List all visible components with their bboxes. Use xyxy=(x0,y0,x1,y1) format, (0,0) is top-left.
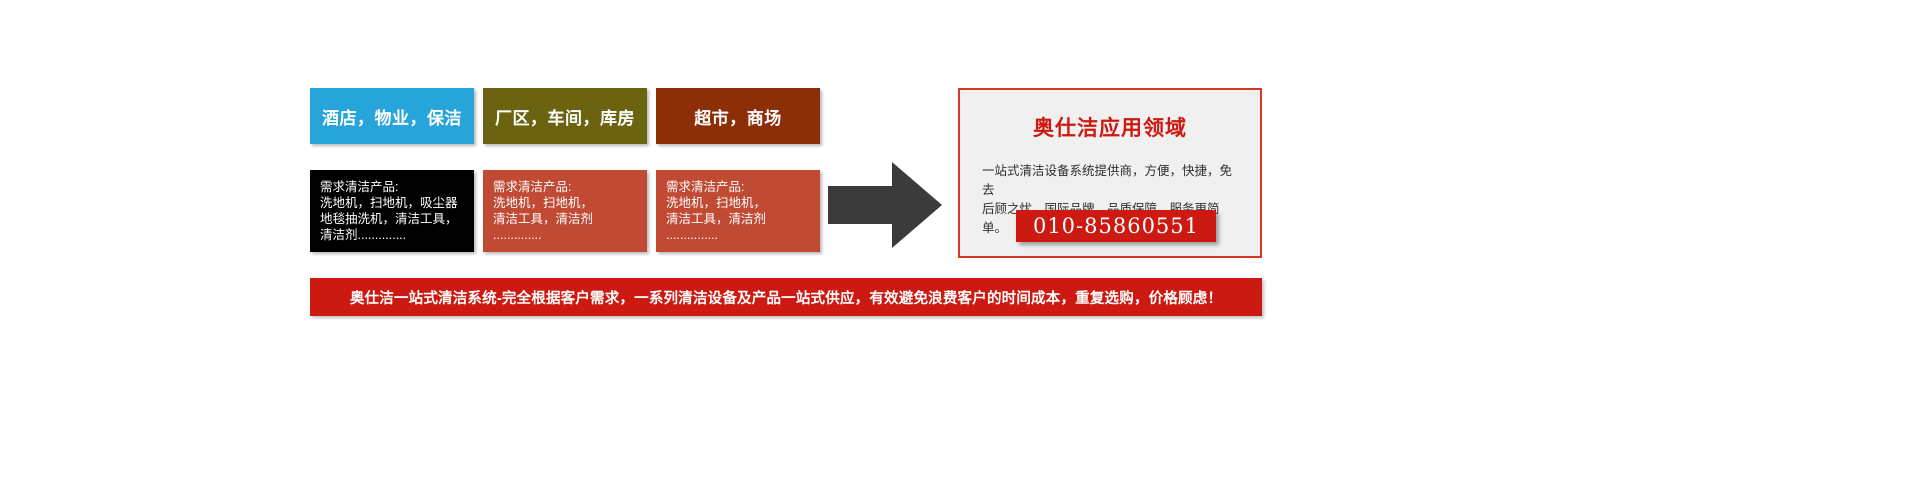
bottom-banner: 奥仕洁一站式清洁系统-完全根据客户需求，一系列清洁设备及产品一站式供应，有效避免… xyxy=(310,278,1262,316)
category-body-1: 需求清洁产品: 洗地机，扫地机，吸尘器 地毯抽洗机，清洁工具， 清洁剂.....… xyxy=(310,170,474,252)
infographic-root: 酒店，物业，保洁 需求清洁产品: 洗地机，扫地机，吸尘器 地毯抽洗机，清洁工具，… xyxy=(0,0,1920,500)
category-header-1: 酒店，物业，保洁 xyxy=(310,88,474,144)
right-arrow-icon xyxy=(828,160,944,250)
category-header-3: 超市，商场 xyxy=(656,88,820,144)
category-header-2: 厂区，车间，库房 xyxy=(483,88,647,144)
category-body-3: 需求清洁产品: 洗地机，扫地机， 清洁工具，清洁剂 ..............… xyxy=(656,170,820,252)
application-domain-panel: 奥仕洁应用领域 一站式清洁设备系统提供商，方便，快捷，免去 后顾之忧，国际品牌，… xyxy=(958,88,1262,258)
phone-number-badge[interactable]: 010-85860551 xyxy=(1016,210,1216,242)
category-body-2: 需求清洁产品: 洗地机，扫地机， 清洁工具，清洁剂 .............. xyxy=(483,170,647,252)
panel-title: 奥仕洁应用领域 xyxy=(960,112,1260,142)
